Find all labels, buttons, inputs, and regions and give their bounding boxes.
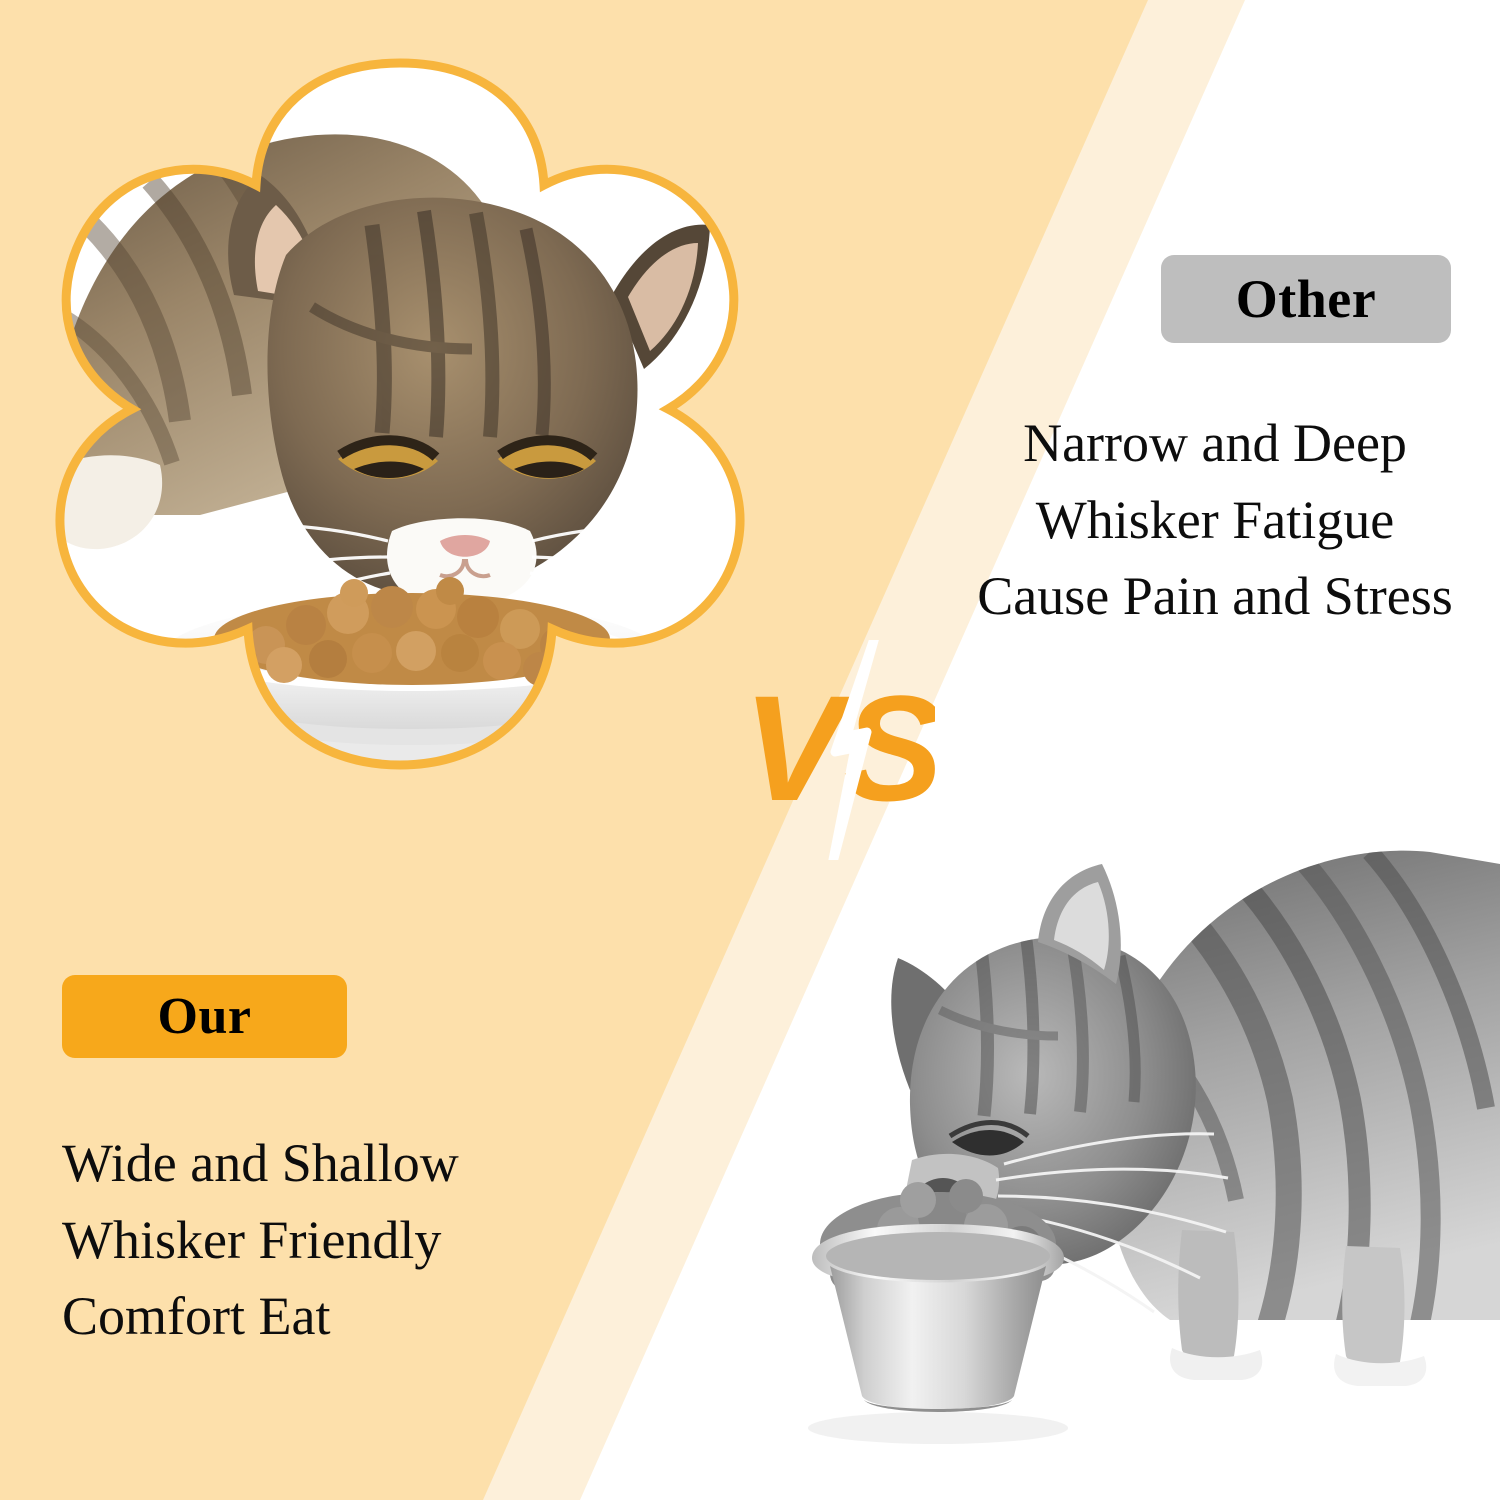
- other-dish-steel-bowl: [808, 1179, 1068, 1444]
- our-product-photo-frame: [20, 45, 780, 835]
- other-feature-3: Cause Pain and Stress: [960, 558, 1470, 635]
- other-feature-list: Narrow and Deep Whisker Fatigue Cause Pa…: [960, 405, 1470, 635]
- our-feature-2: Whisker Friendly: [62, 1202, 622, 1279]
- other-feature-1: Narrow and Deep: [960, 405, 1470, 482]
- badge-other: Other: [1161, 255, 1451, 343]
- our-cat-photo: [20, 45, 780, 835]
- other-feature-2: Whisker Fatigue: [960, 482, 1470, 559]
- our-feature-3: Comfort Eat: [62, 1278, 622, 1355]
- our-feature-1: Wide and Shallow: [62, 1125, 622, 1202]
- badge-our: Our: [62, 975, 347, 1058]
- infographic-canvas: VS Other Our Narrow and Deep Whisker Fat…: [0, 0, 1500, 1500]
- vs-divider: VS: [735, 640, 935, 860]
- other-product-photo: [790, 760, 1500, 1460]
- our-feature-list: Wide and Shallow Whisker Friendly Comfor…: [62, 1125, 622, 1355]
